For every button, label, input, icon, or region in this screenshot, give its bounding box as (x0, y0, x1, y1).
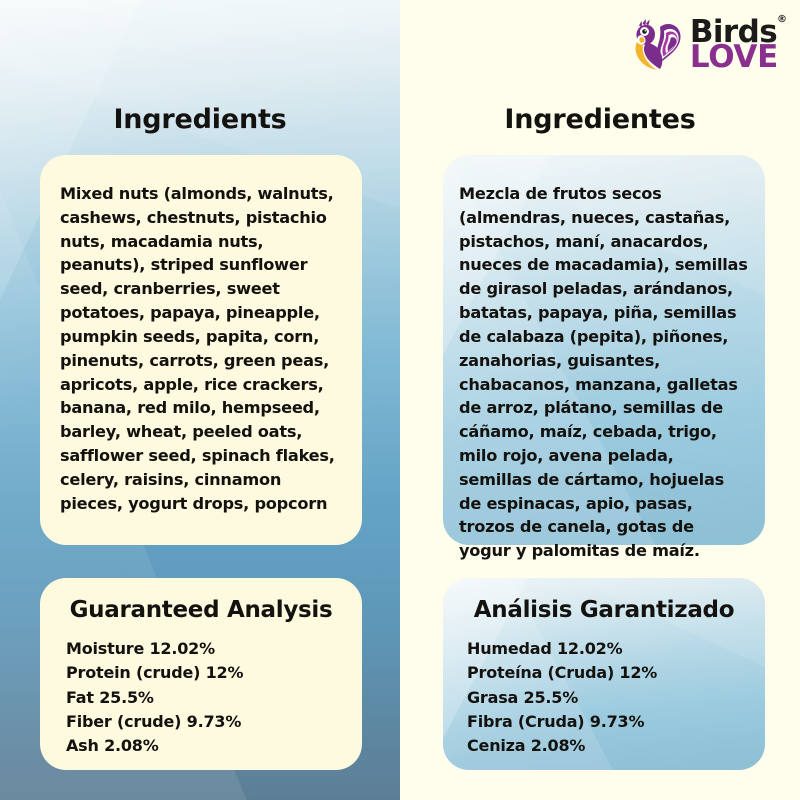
analysis-row: Humedad 12.02% (467, 637, 765, 661)
analysis-row: Grasa 25.5% (467, 686, 765, 710)
column-spanish: Ingredientes Mezcla de frutos secos (alm… (400, 0, 800, 800)
analysis-row: Ceniza 2.08% (467, 734, 765, 758)
analysis-row: Ash 2.08% (66, 734, 362, 758)
product-label-page: Birds ® LOVE Ingredients Mixed nuts (alm… (0, 0, 800, 800)
ingredients-card-es: Mezcla de frutos secos (almendras, nuece… (443, 155, 765, 545)
page-title-ingredients-es: Ingredientes (400, 104, 800, 135)
analysis-row: Moisture 12.02% (66, 637, 362, 661)
ingredients-card-en: Mixed nuts (almonds, walnuts, cashews, c… (40, 155, 362, 545)
ingredients-text-en: Mixed nuts (almonds, walnuts, cashews, c… (40, 155, 362, 515)
column-english: Ingredients Mixed nuts (almonds, walnuts… (0, 0, 400, 800)
analysis-row: Fat 25.5% (66, 686, 362, 710)
ingredients-text-es: Mezcla de frutos secos (almendras, nuece… (443, 155, 765, 563)
analysis-row: Fiber (crude) 9.73% (66, 710, 362, 734)
analysis-row: Fibra (Cruda) 9.73% (467, 710, 765, 734)
analysis-row: Protein (crude) 12% (66, 661, 362, 685)
guaranteed-analysis-card-en: Guaranteed Analysis Moisture 12.02% Prot… (40, 578, 362, 770)
guaranteed-analysis-title-en: Guaranteed Analysis (40, 578, 362, 623)
analysis-row: Proteína (Cruda) 12% (467, 661, 765, 685)
guaranteed-analysis-list-es: Humedad 12.02% Proteína (Cruda) 12% Gras… (443, 623, 765, 759)
page-title-ingredients-en: Ingredients (0, 104, 400, 135)
guaranteed-analysis-card-es: Análisis Garantizado Humedad 12.02% Prot… (443, 578, 765, 770)
guaranteed-analysis-list-en: Moisture 12.02% Protein (crude) 12% Fat … (40, 623, 362, 759)
guaranteed-analysis-title-es: Análisis Garantizado (443, 578, 765, 623)
